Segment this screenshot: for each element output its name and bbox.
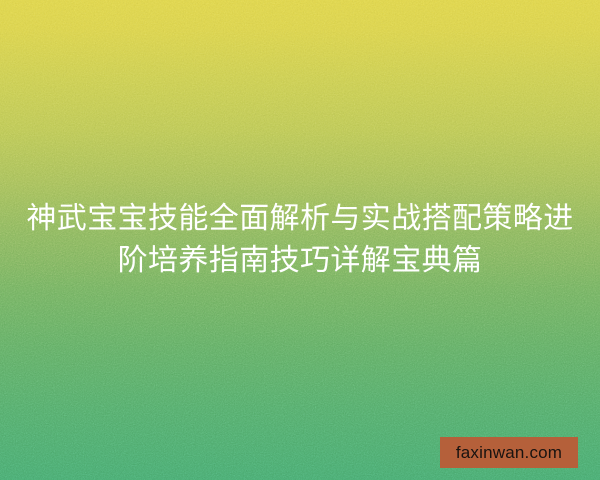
watermark-site-label: faxinwan.com: [456, 444, 562, 461]
cover-title-line-1: 神武宝宝技能全面解析与实战搭配策略进: [22, 198, 578, 240]
cover-title-line-2: 阶培养指南技巧详解宝典篇: [22, 240, 578, 282]
cover-image-canvas: 神武宝宝技能全面解析与实战搭配策略进 阶培养指南技巧详解宝典篇 faxinwan…: [0, 0, 600, 480]
watermark-badge: faxinwan.com: [440, 437, 578, 468]
cover-title: 神武宝宝技能全面解析与实战搭配策略进 阶培养指南技巧详解宝典篇: [0, 198, 600, 282]
